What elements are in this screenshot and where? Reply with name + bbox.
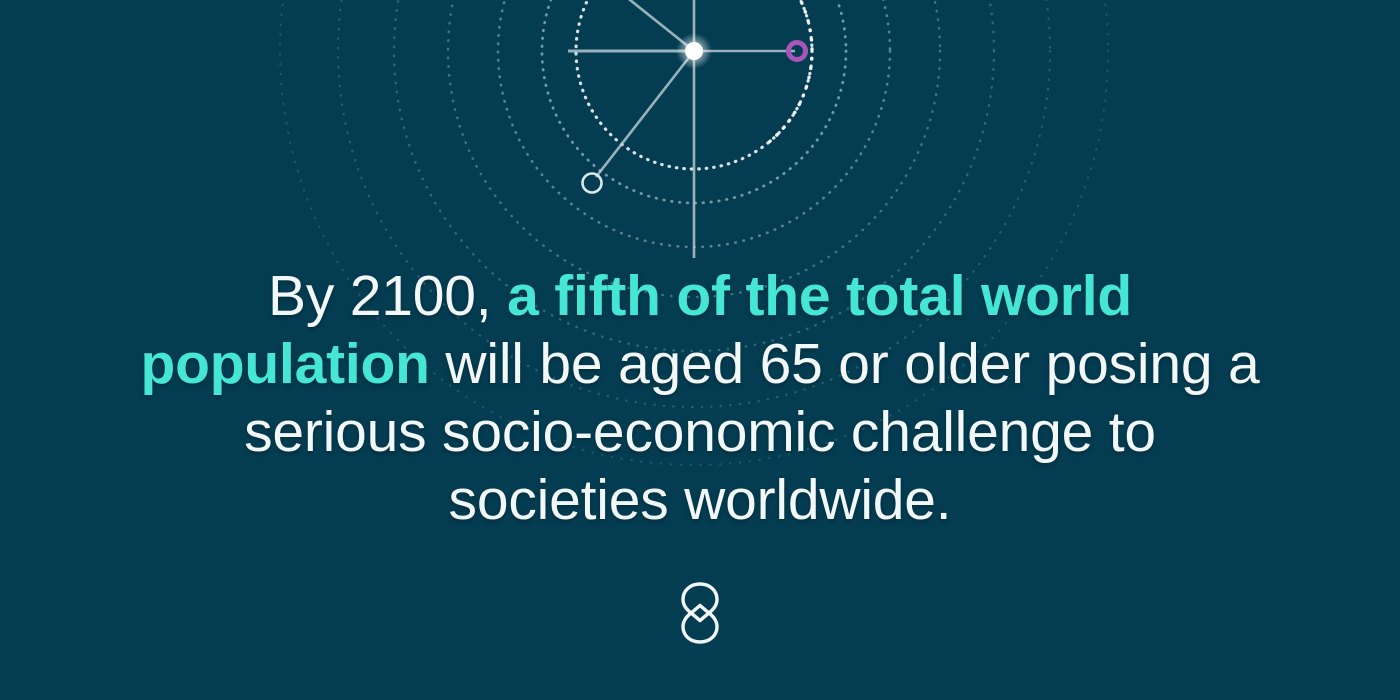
open-circle-node (583, 174, 602, 193)
dotted-arc (498, 0, 890, 247)
dotted-arc (576, 0, 812, 169)
purple-ring-marker (789, 43, 806, 60)
quote-text: By 2100, a fifth of the total world popu… (140, 262, 1260, 534)
brand-logo (0, 578, 1400, 648)
spoke-diagonal-downleft (596, 51, 694, 177)
radial-hub-glow (676, 33, 712, 69)
spoke-group (568, 0, 795, 258)
spoke-diagonal-upleft (600, 0, 694, 51)
radial-hub (685, 42, 703, 60)
quote-block: By 2100, a fifth of the total world popu… (0, 262, 1400, 534)
dotted-arc (528, 0, 859, 217)
dotted-arc (448, 0, 940, 297)
dotted-arc (542, 0, 846, 203)
interlocking-loops-icon (672, 578, 728, 648)
slide-canvas: By 2100, a fifth of the total world popu… (0, 0, 1400, 700)
quote-segment-plain-1: By 2100, (268, 264, 507, 328)
